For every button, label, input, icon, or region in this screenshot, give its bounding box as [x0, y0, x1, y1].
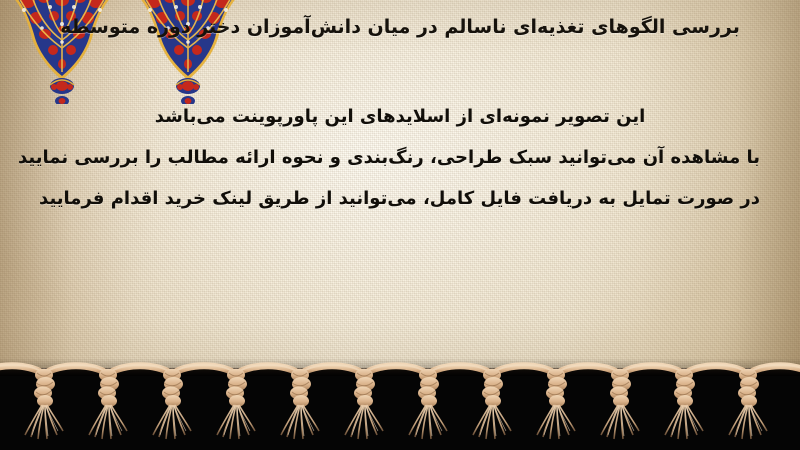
body-line-3: در صورت تمایل به دریافت فایل کامل، می‌تو…: [40, 190, 760, 208]
fringe-tassel-row: [25, 369, 767, 440]
slide-title: بررسی الگوهای تغذیه‌ای ناسالم در میان دا…: [60, 14, 740, 42]
slide-content: بررسی الگوهای تغذیه‌ای ناسالم در میان دا…: [0, 0, 800, 372]
carpet-fringe-icon: [0, 352, 800, 450]
slide-body: این تصویر نمونه‌ای از اسلایدهای این پاور…: [40, 108, 760, 208]
presentation-slide: بررسی الگوهای تغذیه‌ای ناسالم در میان دا…: [0, 0, 800, 450]
body-line-2: با مشاهده آن می‌توانید سبک طراحی، رنگ‌بن…: [40, 149, 760, 167]
body-line-1: این تصویر نمونه‌ای از اسلایدهای این پاور…: [40, 108, 760, 126]
